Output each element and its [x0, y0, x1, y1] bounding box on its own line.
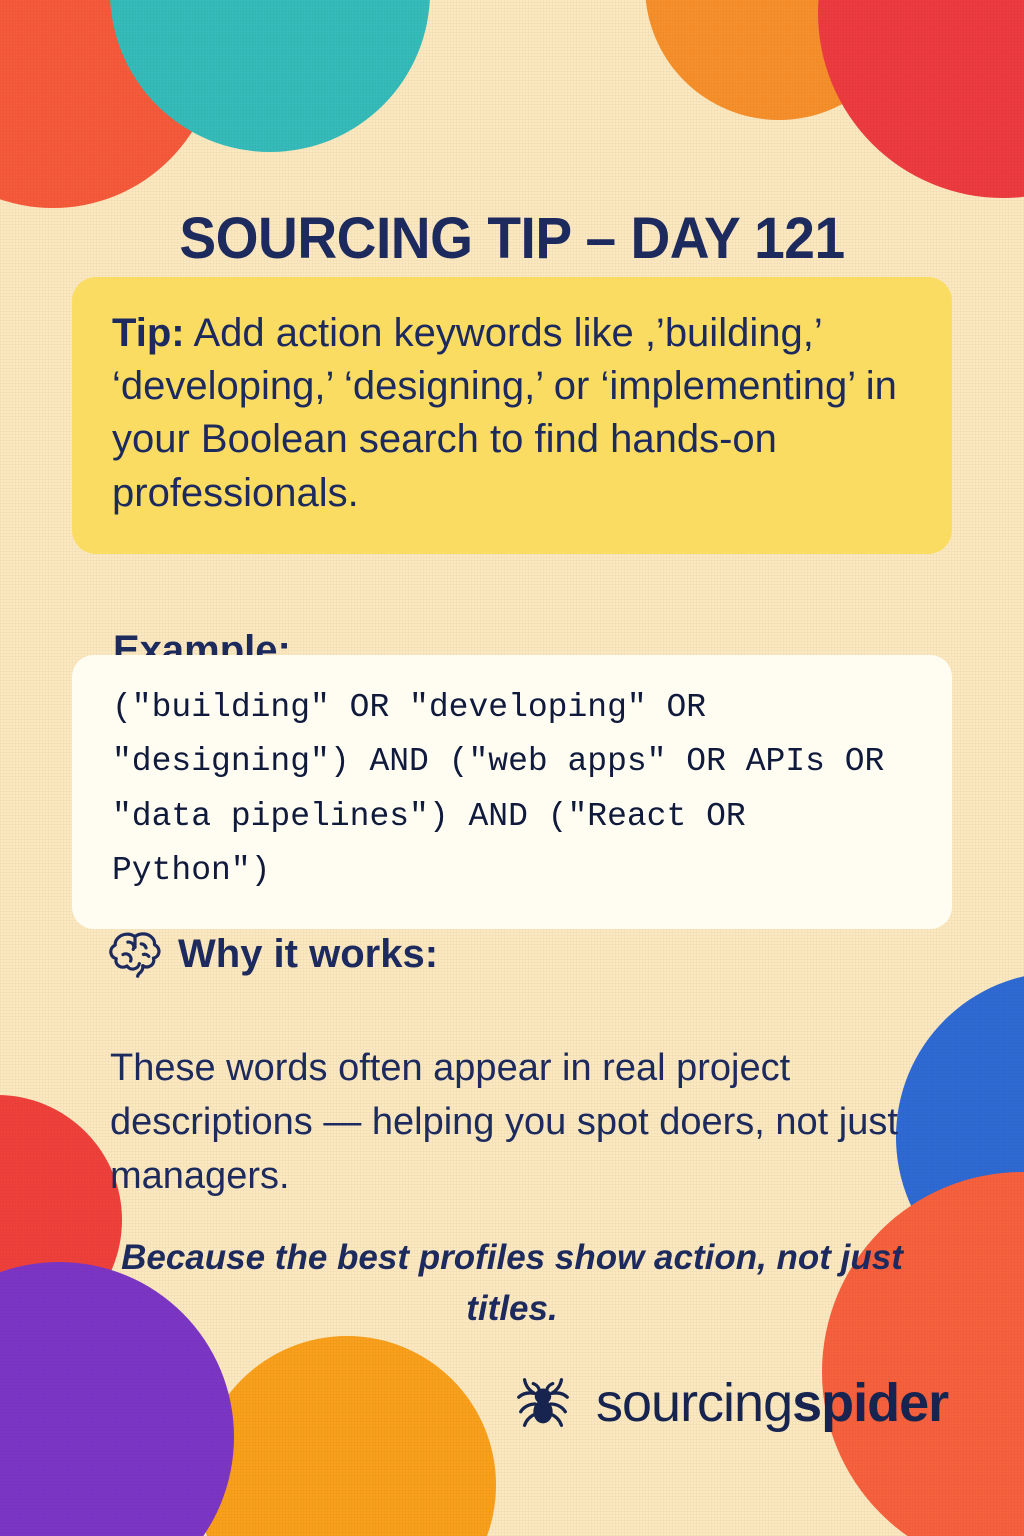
why-it-works-header: Why it works: [108, 930, 438, 978]
poster-content: SOURCING TIP – DAY 121 Tip: Add action k… [0, 0, 1024, 1536]
why-it-works-body: These words often appear in real project… [110, 1042, 940, 1204]
tagline-text: Because the best profiles show action, n… [112, 1233, 912, 1335]
brand-wordmark: sourcingspider [596, 1376, 948, 1430]
tip-body-text: Add action keywords like ,’building,’ ‘d… [112, 311, 897, 515]
brand-name-primary: sourcing [596, 1373, 792, 1433]
boolean-query-box[interactable]: ("building" OR "developing" OR "designin… [72, 655, 952, 929]
why-it-works-heading: Why it works: [178, 934, 438, 974]
tip-lead-label: Tip: [112, 311, 185, 355]
page-title: SOURCING TIP – DAY 121 [26, 205, 999, 272]
brand-logo[interactable]: sourcingspider [512, 1372, 948, 1434]
spider-icon [512, 1372, 574, 1434]
sourcing-tip-poster: SOURCING TIP – DAY 121 Tip: Add action k… [0, 0, 1024, 1536]
brain-icon [108, 930, 162, 978]
brand-name-secondary: spider [792, 1373, 948, 1433]
tip-callout-box: Tip: Add action keywords like ,’building… [72, 277, 952, 554]
